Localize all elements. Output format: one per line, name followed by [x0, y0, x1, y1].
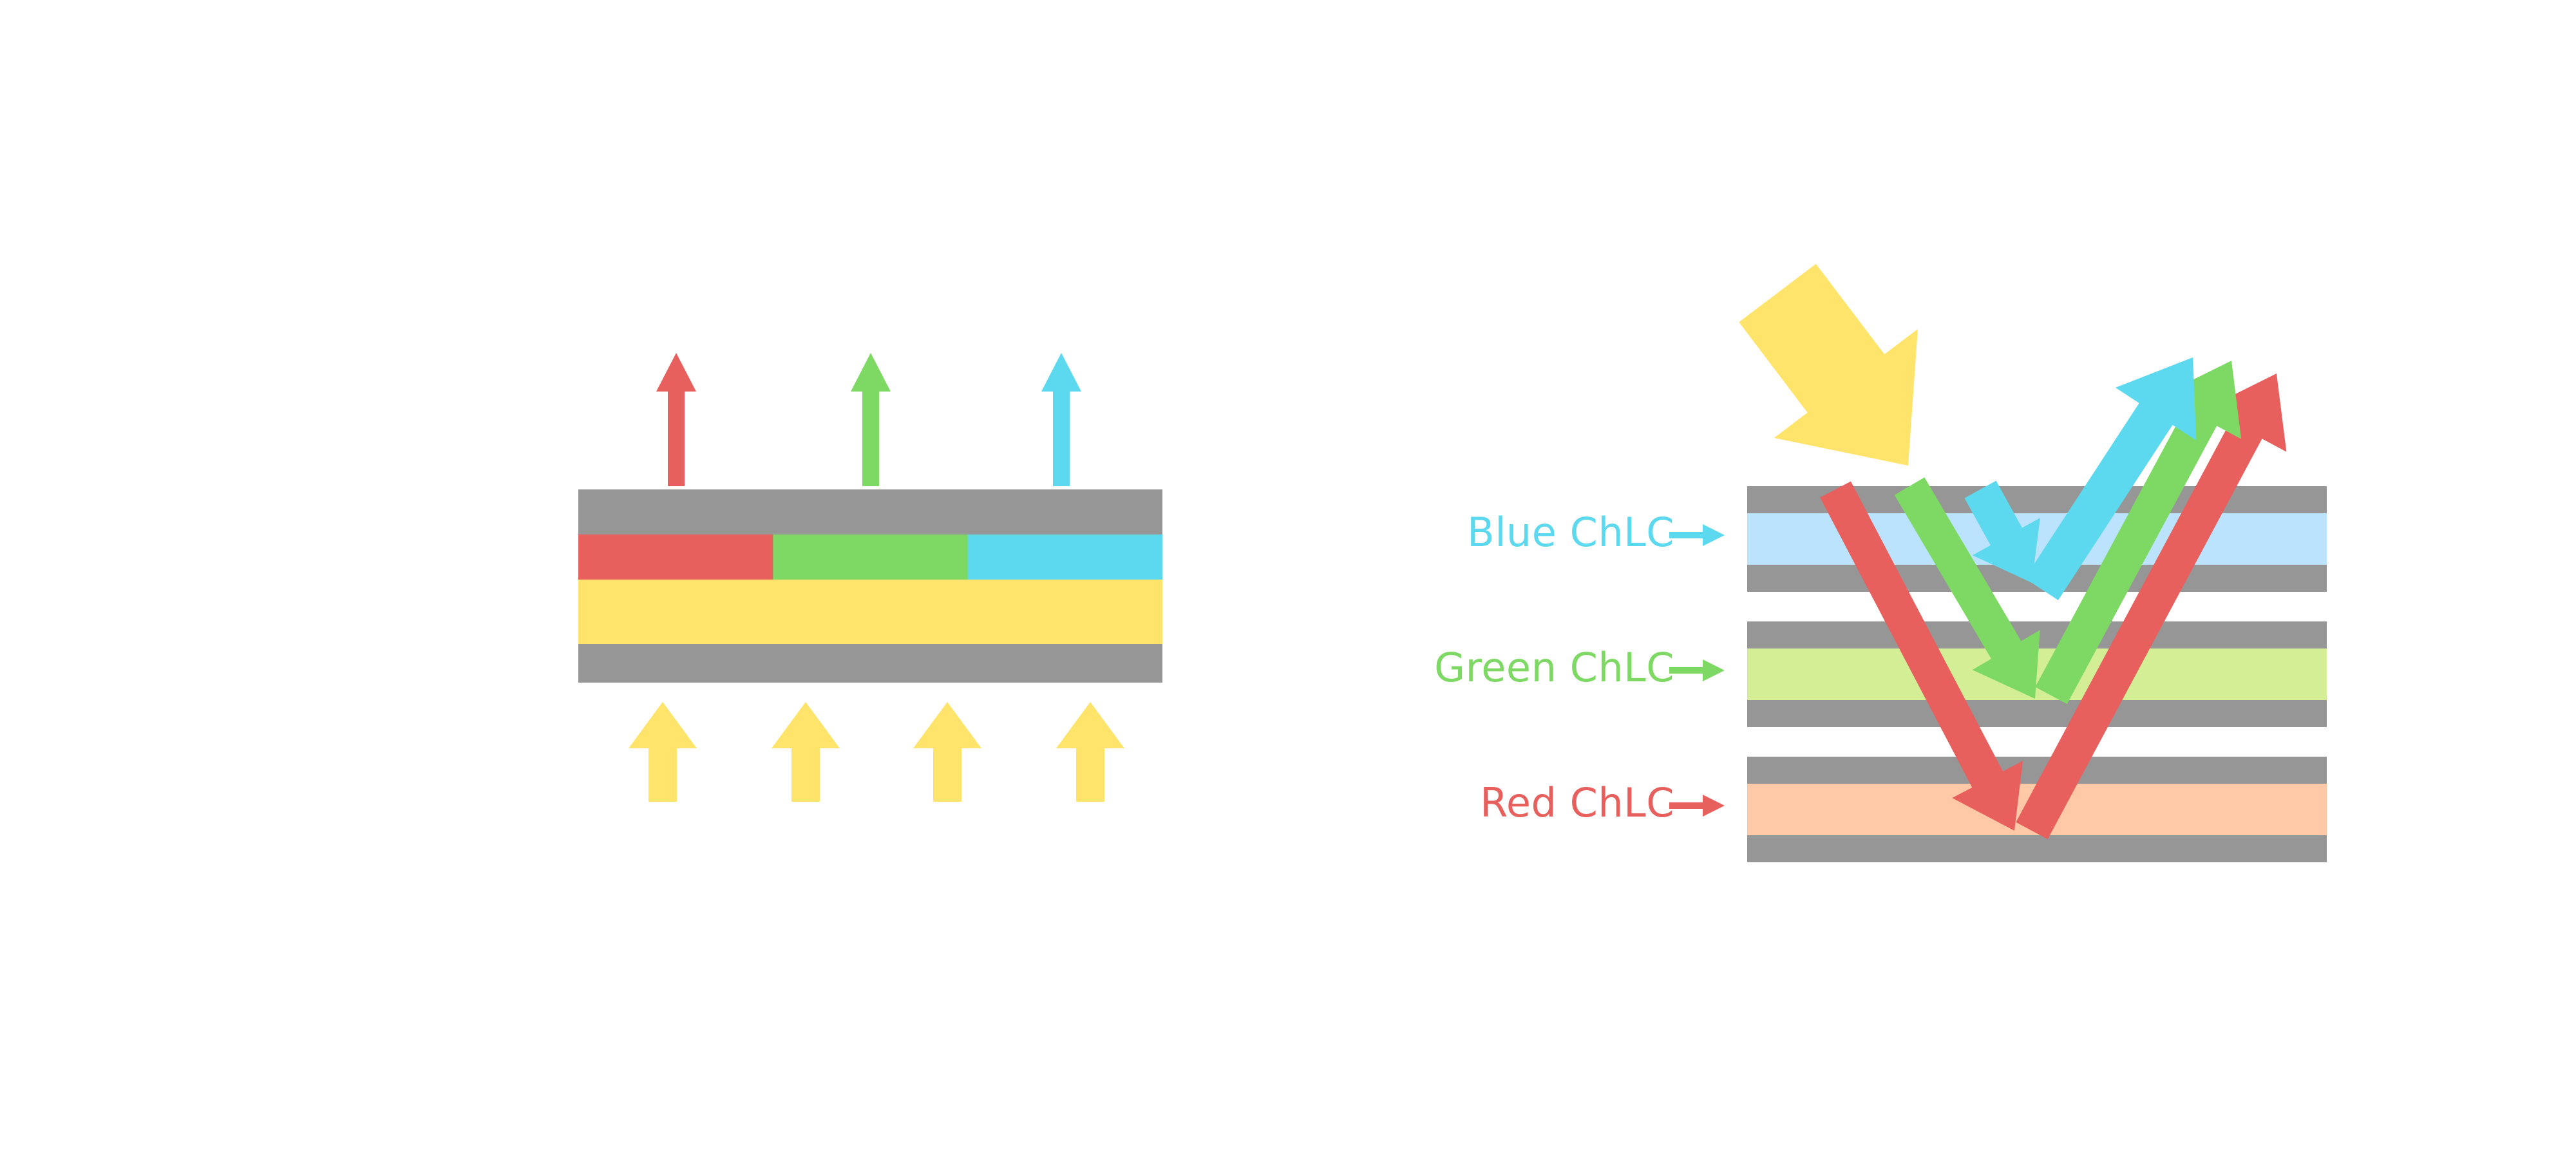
left-layer-stack: [578, 489, 1162, 683]
green-chlc-label: Green ChLC: [1434, 644, 1674, 691]
red-filter-segment: [578, 534, 773, 580]
red-chlc-bottom-gray-band: [1747, 835, 2327, 862]
red-chlc-label: Red ChLC: [1480, 779, 1674, 826]
figure-root: Blue ChLC Green ChLC Red ChLC: [0, 0, 2576, 1154]
red-chlc-top-gray-band: [1747, 757, 2327, 784]
yellow-emissive-layer-band: [578, 580, 1162, 644]
green-filter-segment: [773, 534, 968, 580]
diagram-canvas: Blue ChLC Green ChLC Red ChLC: [0, 0, 2576, 1154]
left-bottom-electrode-band: [578, 644, 1162, 683]
blue-filter-segment: [968, 534, 1162, 580]
left-top-electrode-band: [578, 489, 1162, 534]
blue-chlc-label: Blue ChLC: [1467, 509, 1674, 556]
green-chlc-bottom-gray-band: [1747, 700, 2327, 727]
